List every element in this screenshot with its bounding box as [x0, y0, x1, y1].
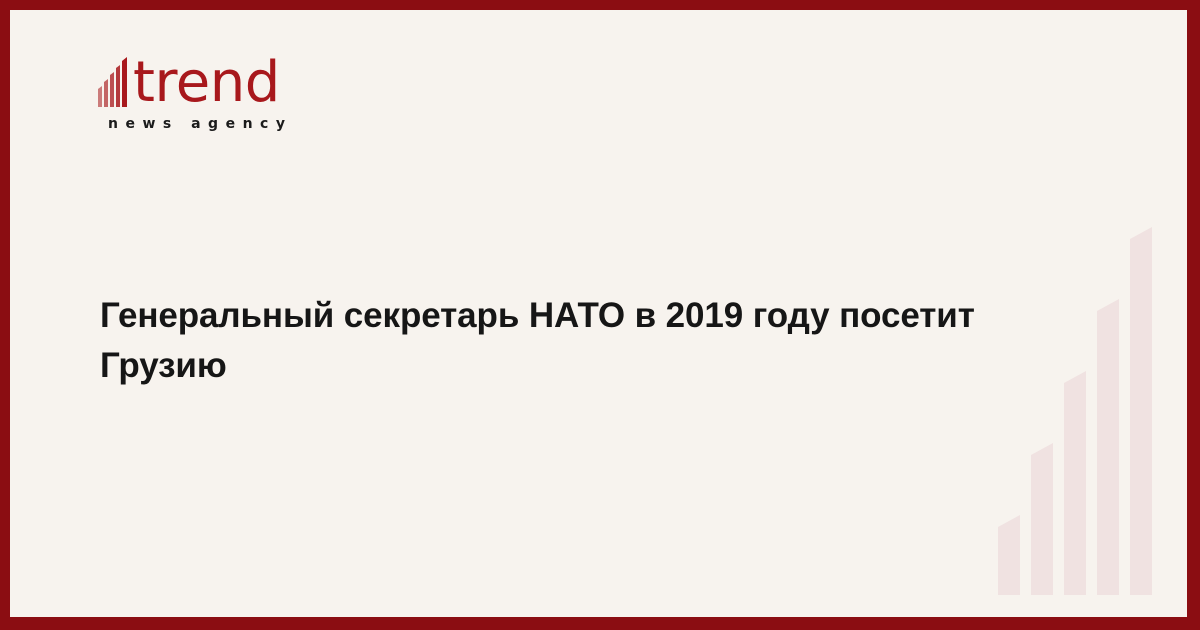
- logo-tagline: news agency: [108, 116, 398, 132]
- logo-wordmark-row: trend: [98, 45, 398, 107]
- ascending-bars-icon: [98, 55, 134, 107]
- card-canvas: trend news agency Генеральный секретарь …: [10, 10, 1187, 617]
- headline: Генеральный секретарь НАТО в 2019 году п…: [100, 291, 1000, 391]
- logo[interactable]: trend news agency: [98, 45, 398, 145]
- ascending-bars-decoration-icon: [998, 155, 1173, 595]
- social-share-card: trend news agency Генеральный секретарь …: [0, 0, 1200, 630]
- ascending-bars-decoration: [998, 155, 1173, 595]
- logo-wordmark: trend: [133, 55, 280, 111]
